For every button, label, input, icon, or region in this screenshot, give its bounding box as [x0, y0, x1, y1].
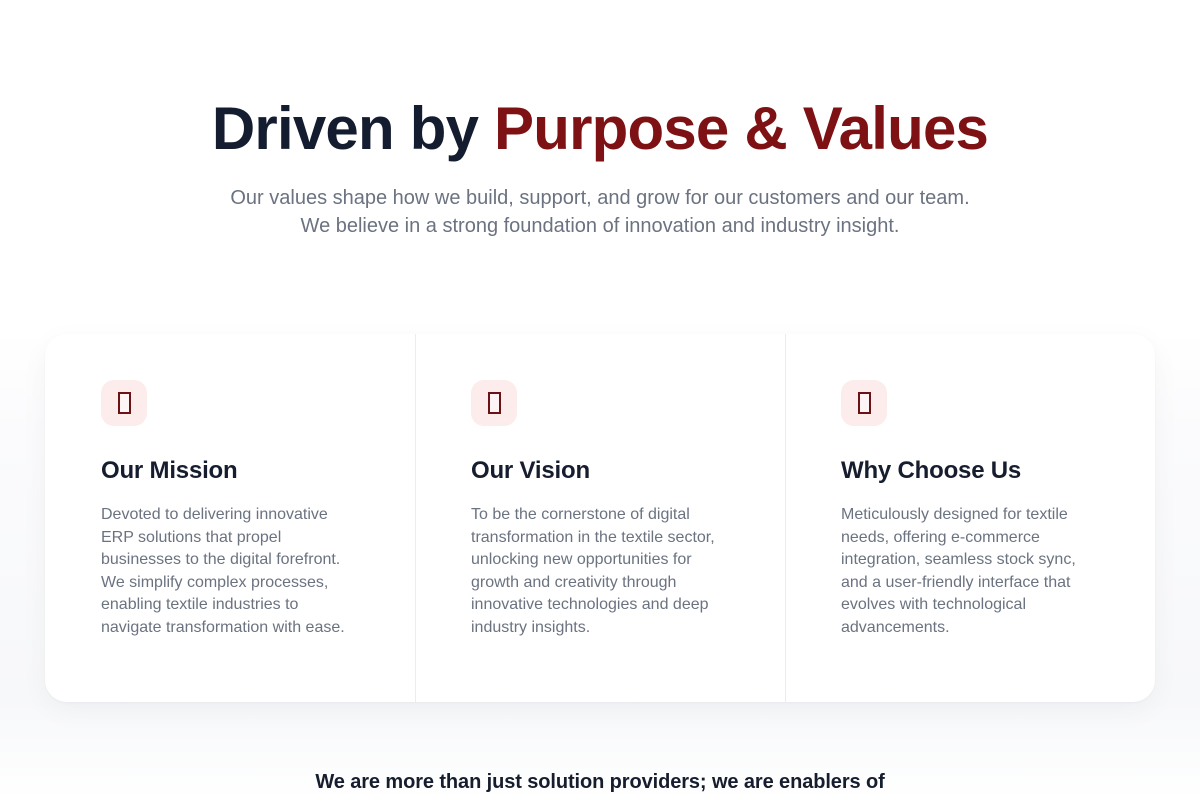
glyph-shape: [858, 392, 871, 414]
value-card-title: Why Choose Us: [841, 456, 1099, 486]
missing-glyph-box-icon: [471, 380, 517, 426]
value-card-body: Meticulously designed for textile needs,…: [841, 504, 1099, 640]
value-card-body: Devoted to delivering innovative ERP sol…: [101, 504, 359, 640]
value-card-why-choose-us: Why Choose Us Meticulously designed for …: [785, 334, 1155, 702]
page-subtitle: Our values shape how we build, support, …: [220, 184, 980, 240]
bottom-statement: We are more than just solution providers…: [0, 768, 1200, 796]
value-card-our-vision: Our Vision To be the cornerstone of digi…: [415, 334, 785, 702]
section-heading-block: Driven by Purpose & Values Our values sh…: [0, 96, 1200, 240]
missing-glyph-box-icon: [101, 380, 147, 426]
values-section: Driven by Purpose & Values Our values sh…: [0, 0, 1200, 800]
glyph-shape: [488, 392, 501, 414]
page-title-accent: Purpose & Values: [494, 95, 988, 162]
page-title: Driven by Purpose & Values: [0, 96, 1200, 162]
value-card-our-mission: Our Mission Devoted to delivering innova…: [45, 334, 415, 702]
values-card-panel: Our Mission Devoted to delivering innova…: [45, 334, 1155, 702]
missing-glyph-box-icon: [841, 380, 887, 426]
value-card-title: Our Mission: [101, 456, 359, 486]
glyph-shape: [118, 392, 131, 414]
value-card-title: Our Vision: [471, 456, 729, 486]
page-title-lead: Driven by: [212, 95, 494, 162]
value-card-body: To be the cornerstone of digital transfo…: [471, 504, 729, 640]
